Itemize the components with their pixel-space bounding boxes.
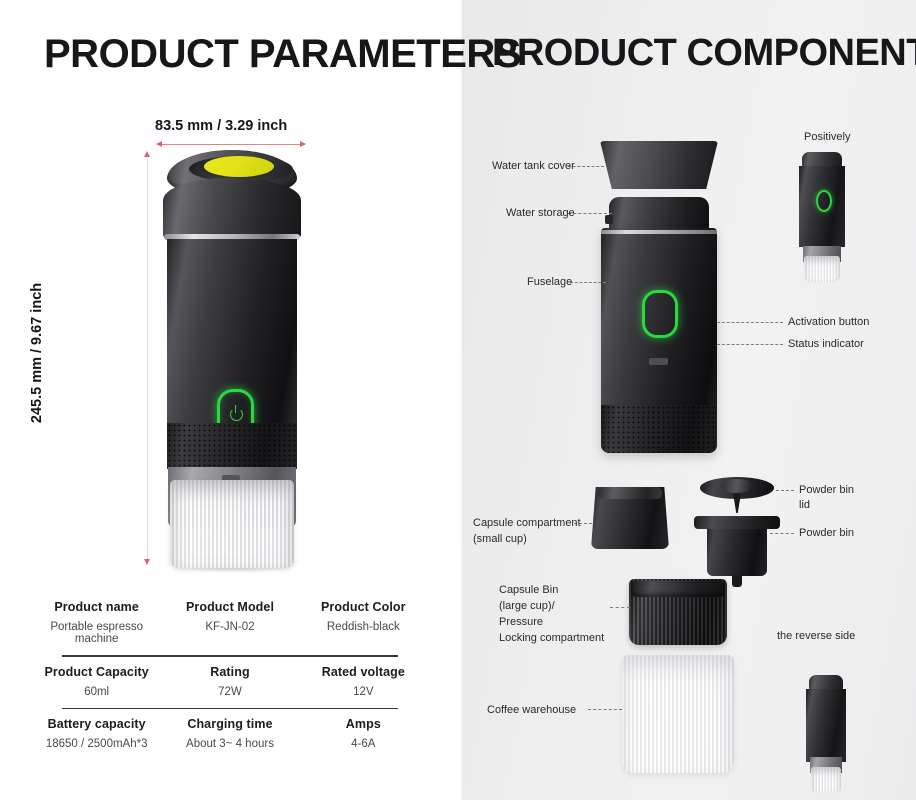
component-powder-bin-lid (700, 477, 774, 515)
spec-value: 72W (163, 686, 296, 698)
page-title-right: PRODUCT COMPONENTS (492, 32, 916, 75)
thumbnail-positively (799, 152, 845, 282)
spec-cell: Charging time About 3~ 4 hours (163, 717, 296, 750)
spec-cell: Rating 72W (163, 665, 296, 698)
powder-lid-stem (733, 493, 741, 513)
powder-bin-flange (694, 516, 780, 529)
capsule-small-rim (598, 487, 662, 499)
label-powder-bin-lid-line2: lid (799, 498, 810, 513)
spec-cell: Product Model KF-JN-02 (163, 600, 296, 645)
label-positively: Positively (804, 130, 850, 145)
label-status-indicator: Status indicator (788, 337, 864, 352)
dimension-width-label: 83.5 mm / 3.29 inch (155, 118, 287, 134)
label-powder-bin: Powder bin (799, 526, 854, 541)
spec-key: Product Model (163, 600, 296, 614)
spec-cell: Product Capacity 60ml (30, 665, 163, 698)
spec-key: Product Capacity (30, 665, 163, 679)
component-powder-bin (707, 516, 767, 576)
label-activation-button: Activation button (788, 315, 869, 330)
spec-value: 60ml (30, 686, 163, 698)
component-capsule-bin-large (629, 579, 727, 645)
spec-cell: Product name Portable espresso machine (30, 600, 163, 645)
component-water-storage (609, 197, 709, 231)
spec-key: Rated voltage (297, 665, 430, 679)
product-mesh-band (167, 423, 297, 469)
label-reverse-side: the reverse side (777, 629, 855, 644)
fuselage-mesh-band (601, 405, 717, 453)
spec-value: 18650 / 2500mAh*3 (30, 738, 163, 750)
fuselage-usb-port-icon (649, 358, 668, 365)
dimension-width-arrow (157, 144, 305, 145)
spec-cell: Amps 4-6A (297, 717, 430, 750)
spec-key: Rating (163, 665, 296, 679)
spec-cell: Product Color Reddish-black (297, 600, 430, 645)
spec-key: Battery capacity (30, 717, 163, 731)
product-neck (163, 178, 301, 240)
spec-value: 12V (297, 686, 430, 698)
thumbnail-reverse-side (806, 675, 846, 793)
component-fuselage (601, 228, 717, 453)
thumb-power-button-icon (816, 190, 832, 212)
product-body (167, 239, 297, 425)
label-capsule-large-line3: Pressure (499, 615, 543, 630)
cap-yellow-top (204, 156, 274, 177)
product-cup (170, 480, 294, 568)
powder-lid-hub (721, 479, 753, 493)
thumb-cup (811, 767, 841, 793)
capsule-large-thread (631, 581, 725, 597)
thumb-body (806, 689, 846, 762)
label-coffee-warehouse: Coffee warehouse (487, 703, 576, 718)
thumb-cup (804, 256, 840, 282)
label-capsule-large-line4: Locking compartment (499, 631, 604, 646)
activation-button-icon (642, 290, 678, 338)
leader-line-status-indicator (717, 344, 783, 345)
table-row: Product Capacity 60ml Rating 72W Rated v… (30, 657, 430, 708)
infographic-page: PRODUCT PARAMETERS PRODUCT COMPONENTS 83… (0, 0, 916, 800)
component-coffee-warehouse (622, 655, 734, 773)
spec-key: Product name (30, 600, 163, 614)
label-capsule-large-line2: (large cup)/ (499, 599, 555, 614)
component-water-tank-cover (600, 141, 718, 189)
spec-value: KF-JN-02 (163, 621, 296, 633)
spec-key: Amps (297, 717, 430, 731)
leader-line-powder-bin-lid (776, 490, 794, 491)
leader-line-capsule-large (610, 607, 630, 608)
dimension-height-label: 245.5 mm / 9.67 inch (29, 258, 45, 448)
water-storage-tab (605, 215, 613, 224)
dimension-height-arrow (147, 152, 148, 564)
product-photo-main (158, 150, 306, 565)
spec-value: 4-6A (297, 738, 430, 750)
label-capsule-large-line1: Capsule Bin (499, 583, 558, 598)
leader-line-activation-button (717, 322, 783, 323)
label-water-tank-cover: Water tank cover (492, 159, 575, 174)
spec-table: Product name Portable espresso machine P… (30, 592, 430, 760)
component-capsule-compartment-small (591, 487, 669, 549)
powder-bin-nozzle (732, 575, 742, 587)
label-capsule-small-line1: Capsule compartment (473, 516, 581, 531)
spec-key: Product Color (297, 600, 430, 614)
page-title-left: PRODUCT PARAMETERS (44, 32, 521, 77)
leader-line-coffee-warehouse (588, 709, 622, 710)
spec-value: About 3~ 4 hours (163, 738, 296, 750)
leader-line-fuselage (570, 282, 606, 283)
spec-value: Portable espresso machine (30, 621, 163, 645)
label-water-storage: Water storage (506, 206, 575, 221)
table-row: Battery capacity 18650 / 2500mAh*3 Charg… (30, 709, 430, 760)
leader-line-powder-bin (770, 533, 794, 534)
label-fuselage: Fuselage (527, 275, 572, 290)
panel-divider (460, 0, 463, 800)
label-powder-bin-lid-line1: Powder bin (799, 483, 854, 498)
spec-key: Charging time (163, 717, 296, 731)
thumb-body (799, 166, 845, 247)
fuselage-chrome-ring (601, 230, 717, 234)
table-row: Product name Portable espresso machine P… (30, 592, 430, 655)
spec-cell: Battery capacity 18650 / 2500mAh*3 (30, 717, 163, 750)
spec-cell: Rated voltage 12V (297, 665, 430, 698)
spec-value: Reddish-black (297, 621, 430, 633)
label-capsule-small-line2: (small cup) (473, 532, 527, 547)
